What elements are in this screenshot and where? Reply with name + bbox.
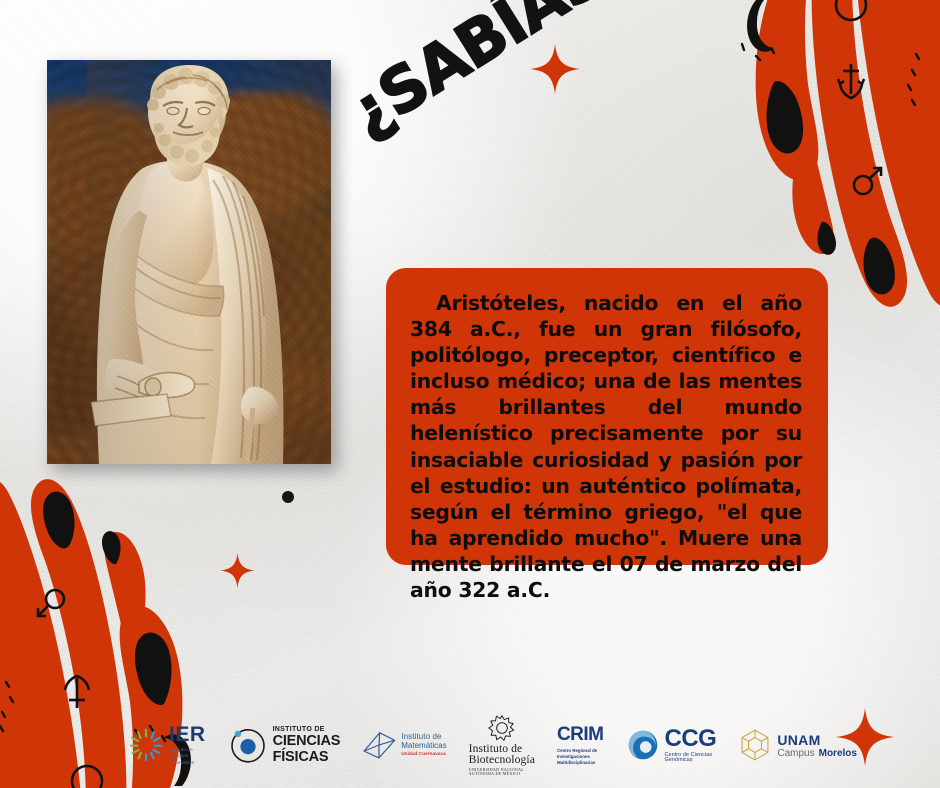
four-point-star-icon <box>220 553 255 593</box>
logo-biotecnologia: Instituto de Biotecnología UNIVERSIDAD N… <box>469 714 535 776</box>
logo-icf-line3: FÍSICAS <box>273 750 341 765</box>
logo-biotecnologia-line1: Instituto de Biotecnología <box>469 743 535 766</box>
logo-icf-line2: CIENCIAS <box>273 734 341 749</box>
logo-ier-text: IER Instituto de Energías Renovables <box>169 724 206 766</box>
logo-crim: CRIM Centro Regional de Investigaciones … <box>557 724 604 766</box>
origami-arrow-icon <box>362 730 396 760</box>
logo-unam-abbr: UNAM <box>777 732 820 748</box>
logo-strip: IER Instituto de Energías Renovables INS… <box>0 710 940 780</box>
logo-ccg-sub: Centro de Ciencias Genómicas <box>665 753 717 764</box>
atom-orbit-icon <box>228 725 268 765</box>
logo-ccg-abbr: CCG <box>665 727 717 751</box>
logo-matematicas-text: Instituto de Matemáticas Unidad Cuernava… <box>401 733 446 757</box>
logo-unam-campus: Campus <box>777 748 814 759</box>
logo-unam-text: UNAM Campus Morelos <box>777 732 857 759</box>
logo-unam: UNAM Campus Morelos <box>738 728 857 762</box>
statue-photo <box>47 60 331 464</box>
logo-ccg: CCG Centro de Ciencias Genómicas <box>626 727 717 764</box>
logo-matematicas: Instituto de Matemáticas Unidad Cuernava… <box>362 730 446 760</box>
logo-biotecnologia-text: Instituto de Biotecnología UNIVERSIDAD N… <box>469 743 535 776</box>
fact-card: Aristóteles, nacido en el año 384 a.C., … <box>386 268 828 565</box>
sunburst-ring-icon <box>128 727 164 763</box>
logo-icf-text: INSTITUTO DE CIENCIAS FÍSICAS <box>273 726 341 764</box>
logo-ier-sub: Instituto de Energías Renovables <box>169 747 206 766</box>
logo-matematicas-line3: Unidad Cuernavaca <box>401 752 446 757</box>
logo-ccg-text: CCG Centro de Ciencias Genómicas <box>665 727 717 764</box>
logo-unam-morelos: Morelos <box>819 748 857 759</box>
swirl-circle-icon <box>626 728 660 762</box>
logo-biotecnologia-line2: UNIVERSIDAD NACIONAL AUTÓNOMA DE MÉXICO <box>469 768 535 776</box>
logo-matematicas-line1: Instituto de <box>401 733 446 741</box>
logo-matematicas-line2: Matemáticas <box>401 742 446 750</box>
dot-icon <box>282 491 294 503</box>
logo-icf-line1: INSTITUTO DE <box>273 726 341 733</box>
logo-crim-sub: Centro Regional de Investigaciones Multi… <box>557 748 604 766</box>
fact-text: Aristóteles, nacido en el año 384 a.C., … <box>410 290 802 603</box>
four-point-star-icon <box>530 44 580 99</box>
logo-icf: INSTITUTO DE CIENCIAS FÍSICAS <box>228 725 341 765</box>
logo-ier-abbr: IER <box>169 724 206 745</box>
photo-grain-overlay <box>47 60 331 464</box>
logo-unam-campus-row: Campus Morelos <box>777 748 857 759</box>
hexagon-honeycomb-icon <box>738 728 772 762</box>
logo-crim-abbr: CRIM <box>557 724 604 746</box>
poster-canvas: ¿SABÍAS QUE...? Aristóteles, nacido en e… <box>0 0 940 788</box>
page-title: ¿SABÍAS QUE...? <box>336 0 680 150</box>
star-outline-icon <box>488 714 516 742</box>
logo-ier: IER Instituto de Energías Renovables <box>128 724 206 766</box>
